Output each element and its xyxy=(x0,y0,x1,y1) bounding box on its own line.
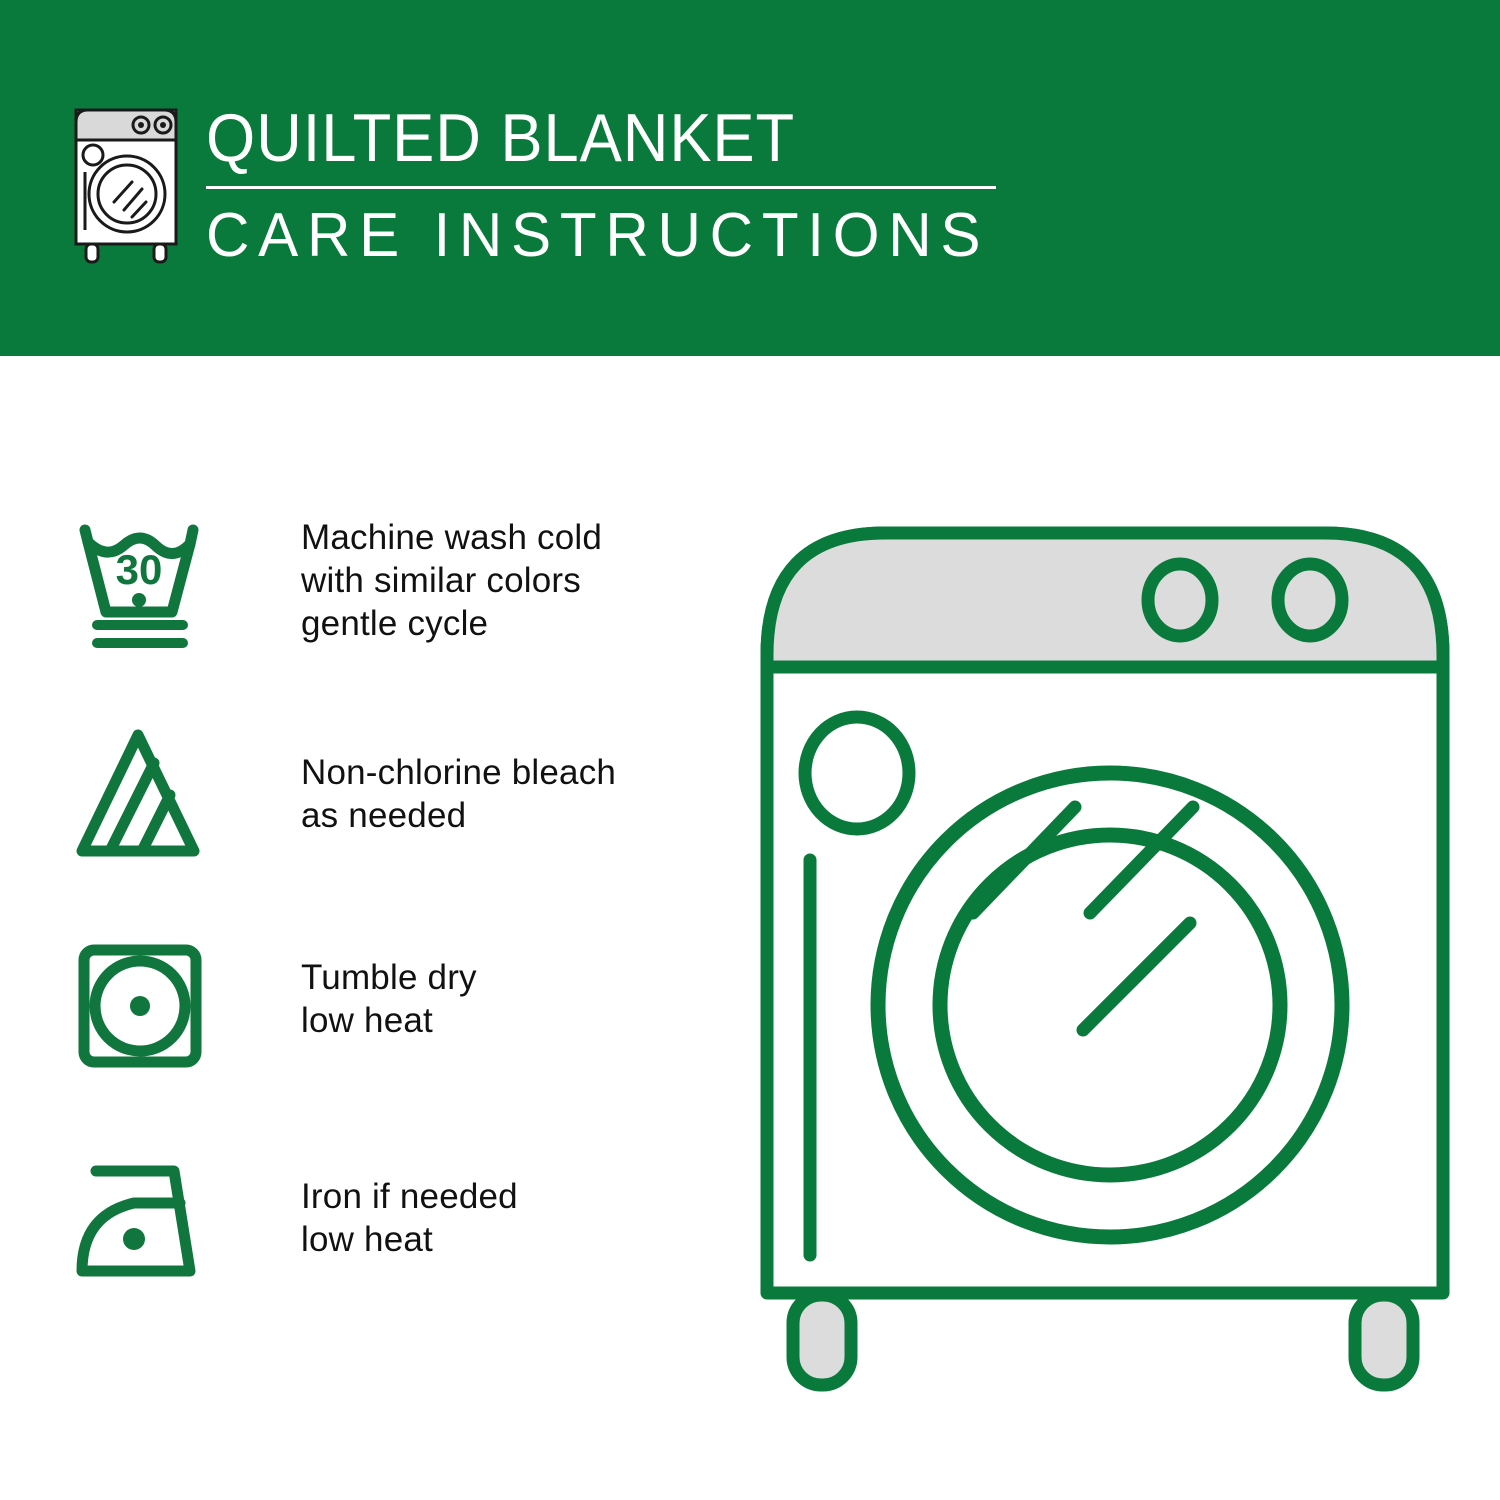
care-line: Machine wash cold xyxy=(301,516,602,559)
care-line: Iron if needed xyxy=(301,1175,518,1218)
page-title-secondary: CARE INSTRUCTIONS xyxy=(206,201,989,271)
care-row-tumble-dry: Tumble dry low heat xyxy=(70,930,730,1145)
washing-machine-illustration xyxy=(745,495,1465,1425)
care-text-iron: Iron if needed low heat xyxy=(245,1145,518,1261)
title-divider xyxy=(206,186,996,189)
care-text-tumble-dry: Tumble dry low heat xyxy=(245,930,477,1042)
care-line: gentle cycle xyxy=(301,602,602,645)
care-instructions-list: 30 Machine wash cold with similar colors… xyxy=(70,500,730,1360)
washing-machine-logo-icon xyxy=(62,96,190,266)
title-block: QUILTED BLANKET CARE INSTRUCTIONS xyxy=(206,96,1013,271)
care-text-bleach: Non-chlorine bleach as needed xyxy=(245,715,616,837)
tumble-dry-low-heat-symbol xyxy=(70,930,245,1088)
care-line: as needed xyxy=(301,794,616,837)
non-chlorine-bleach-triangle-symbol xyxy=(70,715,245,873)
care-line: low heat xyxy=(301,999,477,1042)
care-line: low heat xyxy=(301,1218,518,1261)
page-header: QUILTED BLANKET CARE INSTRUCTIONS xyxy=(0,0,1500,356)
iron-low-heat-symbol xyxy=(70,1145,245,1303)
care-text-machine-wash: Machine wash cold with similar colors ge… xyxy=(245,500,602,645)
care-row-machine-wash: 30 Machine wash cold with similar colors… xyxy=(70,500,730,715)
care-line: Non-chlorine bleach xyxy=(301,751,616,794)
machine-leg-right xyxy=(1355,1295,1413,1385)
machine-wash-30-gentle-symbol: 30 xyxy=(70,500,245,658)
page-title-primary: QUILTED BLANKET xyxy=(206,100,957,176)
wash-temperature-label: 30 xyxy=(116,546,163,593)
care-row-iron: Iron if needed low heat xyxy=(70,1145,730,1360)
care-row-bleach: Non-chlorine bleach as needed xyxy=(70,715,730,930)
care-line: with similar colors xyxy=(301,559,602,602)
header-content: QUILTED BLANKET CARE INSTRUCTIONS xyxy=(62,96,1013,271)
machine-leg-left xyxy=(793,1295,851,1385)
care-line: Tumble dry xyxy=(301,956,477,999)
